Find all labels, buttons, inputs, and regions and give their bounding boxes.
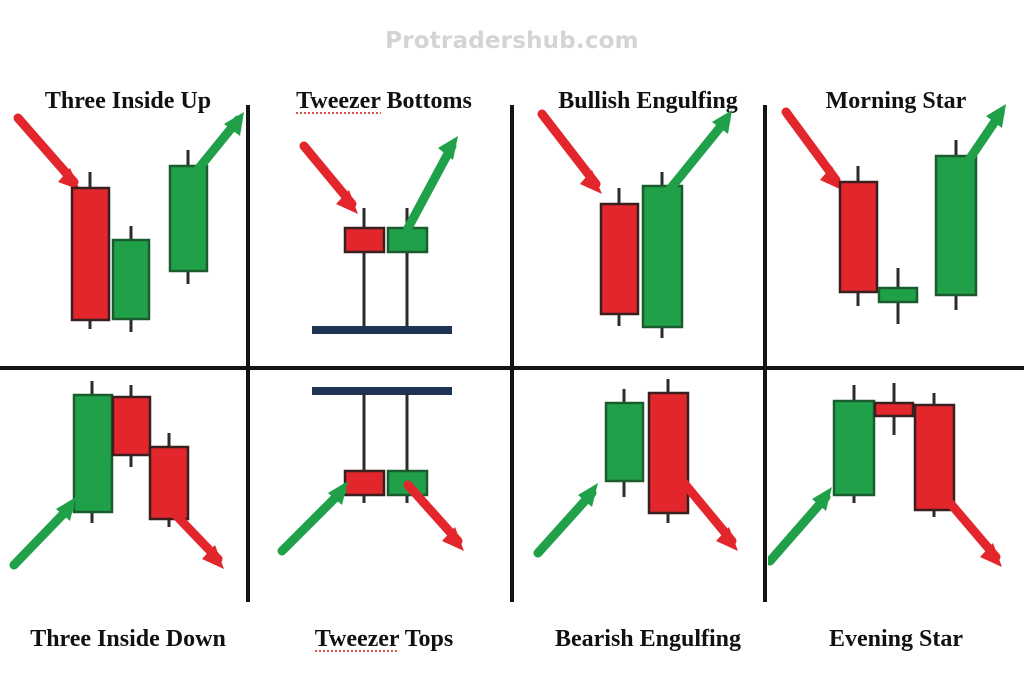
- exit-arrow-down-red: [950, 503, 1002, 567]
- candle-bearish-2: [113, 385, 150, 467]
- pattern-panel-bearish-engulfing[interactable]: Bearish Engulfing: [520, 375, 776, 653]
- candle-bearish-1: [72, 172, 109, 329]
- candle-bullish-star-2: [879, 268, 917, 324]
- candle-bearish-star-2: [875, 383, 913, 435]
- pattern-panel-tweezer-bottoms[interactable]: Tweezer Bottoms: [256, 88, 512, 366]
- exit-arrow-down-red: [408, 485, 464, 551]
- candle-bullish-2: [643, 172, 682, 338]
- pattern-panel-three-inside-down[interactable]: Three Inside Down: [0, 375, 256, 653]
- exit-arrow-up-green: [666, 110, 732, 194]
- pattern-panel-tweezer-tops[interactable]: Tweezer Tops: [256, 375, 512, 653]
- candle-bearish-1: [345, 393, 384, 503]
- entry-arrow-up-green: [770, 487, 832, 561]
- pattern-diagram: [0, 375, 256, 653]
- pattern-diagram: [768, 88, 1024, 366]
- entry-arrow-up-green: [14, 497, 76, 565]
- candle-bearish-1: [345, 208, 384, 330]
- entry-arrow-down-red: [786, 112, 842, 190]
- resistance-line: [312, 387, 452, 395]
- watermark: Protradershub.com: [0, 28, 1024, 54]
- exit-arrow-down-red: [170, 509, 224, 569]
- entry-arrow-down-red: [304, 146, 358, 214]
- pattern-panel-bullish-engulfing[interactable]: Bullish Engulfing: [520, 88, 776, 366]
- pattern-diagram: [520, 375, 776, 653]
- entry-arrow-up-green: [538, 483, 598, 553]
- grid-divider-horizontal: [0, 366, 1024, 370]
- pattern-panel-evening-star[interactable]: Evening Star: [768, 375, 1024, 653]
- candle-bullish-1: [74, 381, 112, 523]
- candle-bearish-1: [840, 166, 877, 306]
- entry-arrow-down-red: [542, 114, 602, 194]
- candle-bullish-1: [834, 385, 874, 503]
- entry-arrow-up-green: [282, 481, 348, 551]
- exit-arrow-down-red: [684, 483, 738, 551]
- candle-bearish-3: [915, 393, 954, 517]
- candle-bullish-2: [113, 226, 149, 332]
- entry-arrow-down-red: [18, 118, 80, 190]
- candle-bullish-1: [606, 389, 643, 497]
- pattern-panel-three-inside-up[interactable]: Three Inside Up: [0, 88, 256, 366]
- exit-arrow-up-green: [408, 136, 458, 228]
- candle-bearish-2: [649, 379, 688, 523]
- pattern-panel-morning-star[interactable]: Morning Star: [768, 88, 1024, 366]
- pattern-diagram: [0, 88, 256, 366]
- exit-arrow-up-green: [186, 112, 244, 184]
- pattern-diagram: [256, 88, 512, 366]
- pattern-diagram: [520, 88, 776, 366]
- exit-arrow-up-green: [958, 104, 1006, 176]
- pattern-diagram: [256, 375, 512, 653]
- support-line: [312, 326, 452, 334]
- pattern-diagram: [768, 375, 1024, 653]
- candle-bearish-1: [601, 188, 638, 326]
